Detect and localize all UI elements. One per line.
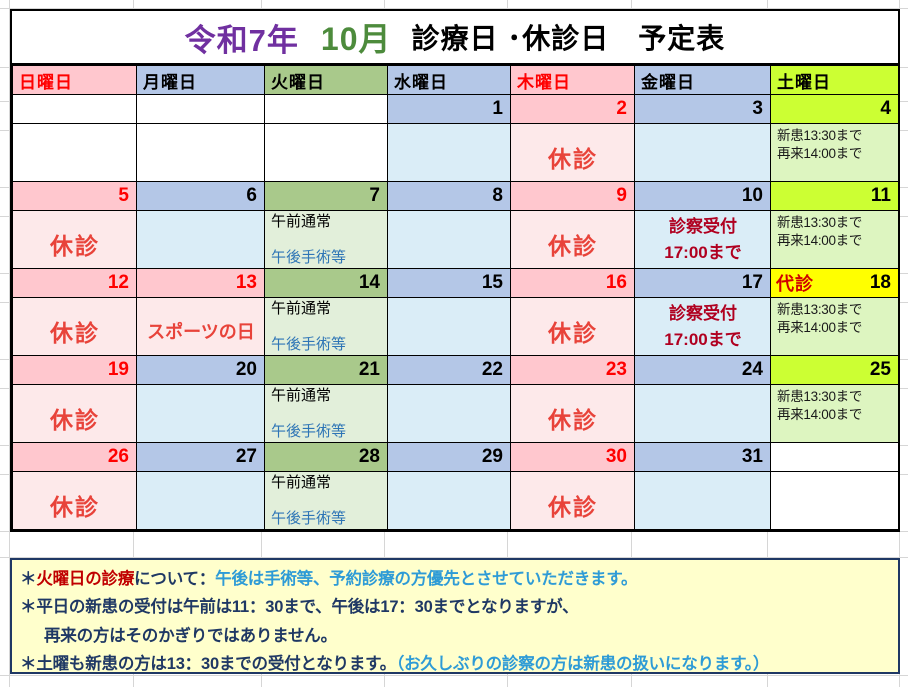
weekday-header-sun: 日曜日 — [13, 66, 137, 95]
weekday-label-tue: 火曜日 — [271, 73, 325, 92]
sports-day-label: スポーツの日 — [143, 318, 259, 344]
content-cell[interactable] — [771, 472, 899, 530]
date-cell[interactable] — [137, 95, 265, 124]
sat-return-patient-note: 再来14:00まで — [777, 145, 893, 163]
content-cell-closed[interactable]: 休診 — [13, 211, 137, 269]
content-cell-reception[interactable]: 診察受付 17:00まで — [635, 298, 771, 356]
note-line-4: ＊土曜も新患の方は13：30までの受付となります。（お久しぶりの診察の方は新患の… — [20, 650, 892, 678]
date-cell[interactable]: 20 — [137, 356, 265, 385]
closed-label: 休診 — [517, 488, 629, 522]
content-cell-saturday[interactable]: 新患13:30まで 再来14:00まで — [771, 211, 899, 269]
afternoon-surgery-label: 午後手術等 — [271, 246, 382, 267]
note1-emphasis: 火曜日の診療 — [36, 570, 134, 588]
date-cell[interactable]: 23 — [511, 356, 635, 385]
weekday-label-fri: 金曜日 — [641, 73, 695, 92]
note1-about: について： — [134, 570, 215, 588]
weekday-label-thu: 木曜日 — [517, 73, 571, 92]
date-cell[interactable]: 4 — [771, 95, 899, 124]
date-cell[interactable]: 29 — [388, 443, 511, 472]
date-row-week5: 26 27 28 29 30 31 — [13, 443, 899, 472]
weekday-header-sat: 土曜日 — [771, 66, 899, 95]
date-cell[interactable]: 24 — [635, 356, 771, 385]
date-cell[interactable]: 6 — [137, 182, 265, 211]
note2-text: 平日の新患の受付は午前は11：30まで、午後は17：30までとなりますが、 — [36, 598, 578, 616]
content-cell[interactable] — [635, 472, 771, 530]
note3-text: 再来の方はそのかぎりではありません。 — [44, 627, 337, 645]
content-cell-closed[interactable]: 休診 — [13, 472, 137, 530]
content-cell-closed[interactable]: 休診 — [511, 472, 635, 530]
content-row-week2: 休診 午前通常 午後手術等 休診 診察受付 17:00まで 新患13:30まで … — [13, 211, 899, 269]
date-cell[interactable]: 21 — [265, 356, 388, 385]
weekday-label-sun: 日曜日 — [19, 73, 73, 92]
date-cell[interactable]: 26 — [13, 443, 137, 472]
date-cell[interactable] — [13, 95, 137, 124]
date-cell[interactable]: 27 — [137, 443, 265, 472]
date-cell[interactable]: 31 — [635, 443, 771, 472]
sat-return-patient-note: 再来14:00まで — [777, 319, 893, 337]
date-cell[interactable]: 1 — [388, 95, 511, 124]
date-cell[interactable]: 30 — [511, 443, 635, 472]
date-cell[interactable]: 9 — [511, 182, 635, 211]
note4-text: 土曜も新患の方は13：30までの受付となります。 — [36, 655, 396, 673]
afternoon-surgery-label: 午後手術等 — [271, 507, 382, 528]
date-row-week4: 19 20 21 22 23 24 25 — [13, 356, 899, 385]
weekday-header-mon: 月曜日 — [137, 66, 265, 95]
content-cell-closed[interactable]: 休診 — [511, 385, 635, 443]
date-cell[interactable]: 16 — [511, 269, 635, 298]
morning-normal-label: 午前通常 — [271, 214, 382, 231]
note1-detail: 午後は手術等、予約診療の方優先とさせていただきます。 — [215, 570, 637, 588]
weekday-header-tue: 火曜日 — [265, 66, 388, 95]
closed-label: 休診 — [19, 227, 131, 261]
content-cell-closed[interactable]: 休診 — [511, 211, 635, 269]
calendar-table: 令和7年 10月 診療日 ･休診日 予定表 日曜日 月曜日 火曜日 水曜日 木曜… — [10, 9, 900, 532]
content-cell-closed[interactable]: 休診 — [511, 124, 635, 182]
content-cell[interactable] — [137, 472, 265, 530]
content-cell-saturday[interactable]: 新患13:30まで 再来14:00まで — [771, 385, 899, 443]
calendar-page: 令和7年 10月 診療日 ･休診日 予定表 日曜日 月曜日 火曜日 水曜日 木曜… — [0, 0, 908, 687]
reception-label: 診察受付 — [641, 214, 765, 240]
content-cell-closed[interactable]: 休診 — [511, 298, 635, 356]
morning-normal-label: 午前通常 — [271, 388, 382, 405]
closed-label: 休診 — [517, 401, 629, 435]
weekday-header-row: 日曜日 月曜日 火曜日 水曜日 木曜日 金曜日 土曜日 — [13, 66, 899, 95]
note-line-1: ＊火曜日の診療について：午後は手術等、予約診療の方優先とさせていただきます。 — [20, 565, 892, 593]
substitute-doctor-badge: 代診 — [776, 270, 814, 296]
date-cell[interactable]: 25 — [771, 356, 899, 385]
content-cell[interactable] — [388, 124, 511, 182]
date-cell[interactable]: 22 — [388, 356, 511, 385]
closed-label: 休診 — [19, 401, 131, 435]
content-row-week1: 休診 新患13:30まで 再来14:00まで — [13, 124, 899, 182]
afternoon-surgery-label: 午後手術等 — [271, 333, 382, 354]
content-cell-saturday[interactable]: 新患13:30まで 再来14:00まで — [771, 124, 899, 182]
closed-label: 休診 — [517, 314, 629, 348]
content-cell-surgery[interactable]: 午前通常 午後手術等 — [265, 211, 388, 269]
content-cell-surgery[interactable]: 午前通常 午後手術等 — [265, 298, 388, 356]
date-cell[interactable]: 2 — [511, 95, 635, 124]
date-cell[interactable]: 14 — [265, 269, 388, 298]
date-cell[interactable]: 17 — [635, 269, 771, 298]
title-month: 10月 — [321, 14, 392, 60]
date-cell[interactable]: 5 — [13, 182, 137, 211]
content-cell[interactable] — [388, 385, 511, 443]
date-row-week3: 12 13 14 15 16 17 代診 18 — [13, 269, 899, 298]
morning-normal-label: 午前通常 — [271, 301, 382, 318]
date-cell[interactable]: 11 — [771, 182, 899, 211]
notes-box: ＊火曜日の診療について：午後は手術等、予約診療の方優先とさせていただきます。 ＊… — [10, 558, 900, 674]
content-row-week5: 休診 午前通常 午後手術等 休診 — [13, 472, 899, 530]
content-row-week3: 休診 スポーツの日 午前通常 午後手術等 休診 診察受付 17:00まで 新患1… — [13, 298, 899, 356]
note-line-3: 再来の方はそのかぎりではありません。 — [20, 622, 892, 650]
bullet-asterisk: ＊ — [20, 655, 36, 673]
note4-detail: （お久しぶりの診察の方は新患の扱いになります。） — [396, 655, 769, 673]
content-cell[interactable] — [137, 211, 265, 269]
date-cell[interactable]: 28 — [265, 443, 388, 472]
weekday-header-thu: 木曜日 — [511, 66, 635, 95]
content-cell[interactable] — [388, 211, 511, 269]
weekday-label-sat: 土曜日 — [777, 73, 831, 92]
content-cell-holiday[interactable]: スポーツの日 — [137, 298, 265, 356]
page-title: 令和7年 10月 診療日 ･休診日 予定表 — [12, 11, 898, 65]
content-cell-reception[interactable]: 診察受付 17:00まで — [635, 211, 771, 269]
content-cell-saturday[interactable]: 新患13:30まで 再来14:00まで — [771, 298, 899, 356]
closed-label: 休診 — [19, 488, 131, 522]
afternoon-surgery-label: 午後手術等 — [271, 420, 382, 441]
note-line-2: ＊平日の新患の受付は午前は11：30まで、午後は17：30までとなりますが、 — [20, 593, 892, 621]
weekday-header-wed: 水曜日 — [388, 66, 511, 95]
weekday-header-fri: 金曜日 — [635, 66, 771, 95]
sat-new-patient-note: 新患13:30まで — [777, 127, 893, 145]
date-cell[interactable]: 7 — [265, 182, 388, 211]
date-cell-substitute[interactable]: 代診 18 — [771, 269, 899, 298]
sat-new-patient-note: 新患13:30まで — [777, 214, 893, 232]
morning-normal-label: 午前通常 — [271, 475, 382, 492]
date-cell[interactable]: 10 — [635, 182, 771, 211]
sat-new-patient-note: 新患13:30まで — [777, 301, 893, 319]
title-rest: 診療日 ･休診日 予定表 — [412, 17, 726, 57]
date-cell[interactable] — [771, 443, 899, 472]
title-era: 令和7年 — [185, 15, 299, 60]
bullet-asterisk: ＊ — [20, 570, 36, 588]
weekday-label-mon: 月曜日 — [143, 73, 197, 92]
date-row-week1: 1 2 3 4 — [13, 95, 899, 124]
content-cell[interactable] — [137, 385, 265, 443]
closed-label: 休診 — [517, 227, 629, 261]
month-grid: 日曜日 月曜日 火曜日 水曜日 木曜日 金曜日 土曜日 1 2 3 4 — [12, 65, 899, 530]
date-cell[interactable]: 8 — [388, 182, 511, 211]
content-cell[interactable] — [137, 124, 265, 182]
closed-label: 休診 — [19, 314, 131, 348]
content-cell[interactable] — [635, 385, 771, 443]
content-cell-closed[interactable]: 休診 — [13, 298, 137, 356]
date-cell[interactable] — [265, 95, 388, 124]
date-cell[interactable]: 12 — [13, 269, 137, 298]
date-cell[interactable]: 13 — [137, 269, 265, 298]
content-cell[interactable] — [265, 124, 388, 182]
sat-new-patient-note: 新患13:30まで — [777, 388, 893, 406]
reception-time: 17:00まで — [641, 327, 765, 353]
sat-return-patient-note: 再来14:00まで — [777, 406, 893, 424]
date-cell[interactable]: 3 — [635, 95, 771, 124]
content-cell[interactable] — [13, 124, 137, 182]
date-cell[interactable]: 15 — [388, 269, 511, 298]
content-cell-surgery[interactable]: 午前通常 午後手術等 — [265, 385, 388, 443]
bullet-asterisk: ＊ — [20, 598, 36, 616]
content-row-week4: 休診 午前通常 午後手術等 休診 新患13:30まで 再来14:00まで — [13, 385, 899, 443]
content-cell[interactable] — [635, 124, 771, 182]
content-cell-closed[interactable]: 休診 — [13, 385, 137, 443]
weekday-label-wed: 水曜日 — [394, 73, 448, 92]
sat-return-patient-note: 再来14:00まで — [777, 232, 893, 250]
reception-time: 17:00まで — [641, 240, 765, 266]
date-row-week2: 5 6 7 8 9 10 11 — [13, 182, 899, 211]
reception-label: 診察受付 — [641, 301, 765, 327]
date-cell[interactable]: 19 — [13, 356, 137, 385]
closed-label: 休診 — [517, 140, 629, 174]
content-cell[interactable] — [388, 298, 511, 356]
content-cell[interactable] — [388, 472, 511, 530]
content-cell-surgery[interactable]: 午前通常 午後手術等 — [265, 472, 388, 530]
